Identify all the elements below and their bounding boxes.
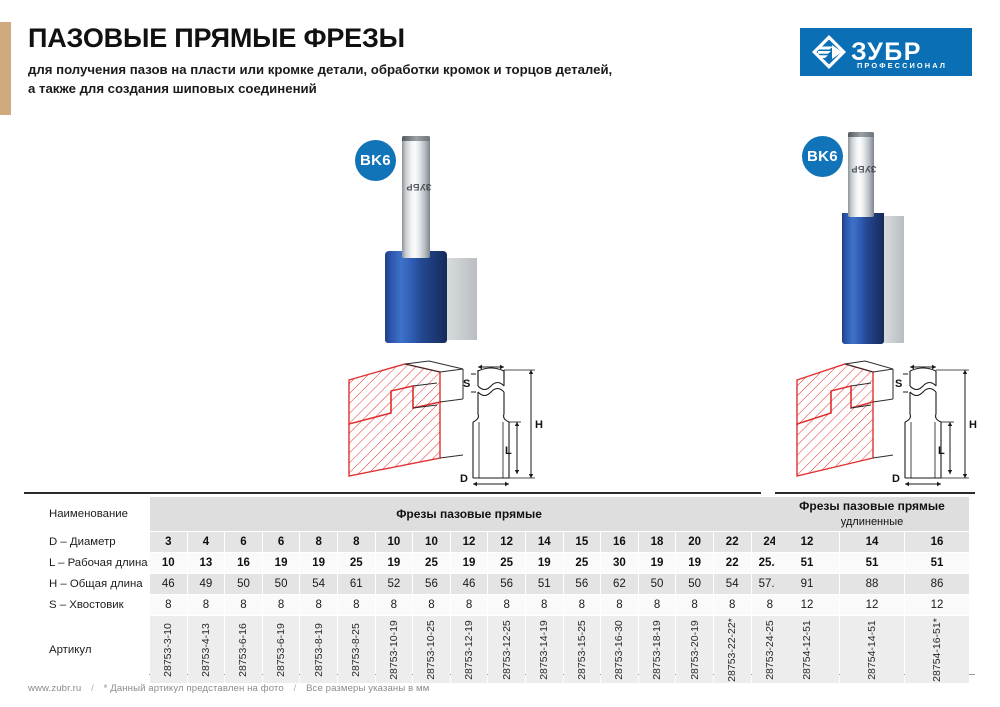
table-row: H – Общая длина4649505054615256465651566…	[23, 574, 788, 594]
table-cell: 16	[225, 553, 262, 573]
accent-bar	[0, 22, 11, 115]
table-cell: 50	[639, 574, 676, 594]
table-cell: 8	[676, 595, 713, 615]
article-cell: 28754-14-51	[840, 616, 904, 683]
table-cell: 16	[601, 532, 638, 552]
table-cell: 25	[564, 553, 601, 573]
spec-table-main: НаименованиеФрезы пазовые прямыеD – Диам…	[22, 496, 789, 684]
table-cell: 8	[714, 595, 751, 615]
table-cell: 8	[150, 595, 187, 615]
cutter-shank	[402, 136, 430, 258]
table-cell: 8	[564, 595, 601, 615]
table-cell: 8	[225, 595, 262, 615]
table-cell: 14	[840, 532, 904, 552]
table-cell: 8	[338, 595, 375, 615]
article-row-ext: 28754-12-5128754-14-5128754-16-51*	[775, 616, 969, 683]
badge-bk6-standard: BK6	[355, 140, 396, 181]
table-ext-top-rule	[775, 492, 975, 494]
article-cell: 28753-18-19	[639, 616, 676, 683]
table-cell: 8	[526, 595, 563, 615]
article-cell: 28753-10-19	[376, 616, 413, 683]
table-cell: 50	[676, 574, 713, 594]
row-label: L – Рабочая длина	[23, 553, 149, 573]
table-cell: 19	[676, 553, 713, 573]
technical-drawing-standard: S H L D	[345, 358, 545, 490]
svg-text:D: D	[460, 473, 468, 485]
table-cell: 8	[338, 532, 375, 552]
table-cell: 22	[714, 553, 751, 573]
table-cell: 30	[601, 553, 638, 573]
cutter-body	[385, 255, 447, 343]
article-cell: 28753-14-19	[526, 616, 563, 683]
table-cell: 19	[300, 553, 337, 573]
article-cell: 28753-6-19	[263, 616, 300, 683]
table-cell: 54	[300, 574, 337, 594]
cutter-brandmark-ext: ЗУБР	[851, 164, 876, 174]
table-cell: 13	[188, 553, 225, 573]
zubr-diamond-icon	[809, 32, 849, 72]
footer-site[interactable]: www.zubr.ru	[28, 683, 81, 694]
table-cell: 51	[775, 553, 839, 573]
datasheet-page: ПАЗОВЫЕ ПРЯМЫЕ ФРЕЗЫ для получения пазов…	[0, 0, 1000, 707]
table-ext-row: 515151	[775, 553, 969, 573]
table-ext-row: 918886	[775, 574, 969, 594]
table-cell: 6	[225, 532, 262, 552]
article-cell: 28753-6-16	[225, 616, 262, 683]
table-cell: 19	[376, 553, 413, 573]
table-cell: 20	[676, 532, 713, 552]
row-label: S – Хвостовик	[23, 595, 149, 615]
table-cell: 19	[526, 553, 563, 573]
table-cell: 62	[601, 574, 638, 594]
table-cell: 46	[150, 574, 187, 594]
table-cell: 51	[905, 553, 969, 573]
footer-note-1: * Данный артикул представлен на фото	[104, 683, 284, 694]
table-cell: 12	[488, 532, 525, 552]
article-cell: 28753-8-25	[338, 616, 375, 683]
article-row: Артикул28753-3-1028753-4-1328753-6-16287…	[23, 616, 788, 683]
shank-top-cap	[402, 136, 430, 141]
footer-note-2: Все размеры указаны в мм	[306, 683, 429, 694]
table-cell: 18	[639, 532, 676, 552]
zubr-logo: ЗУБР ПРОФЕССИОНАЛ	[800, 28, 972, 76]
table-cell: 52	[376, 574, 413, 594]
article-cell: 28753-8-19	[300, 616, 337, 683]
article-cell: 28754-12-51	[775, 616, 839, 683]
badge-bk6-extended: BK6	[802, 136, 843, 177]
article-cell: 28753-15-25	[564, 616, 601, 683]
table-cell: 8	[300, 595, 337, 615]
table-cell: 3	[150, 532, 187, 552]
table-cell: 61	[338, 574, 375, 594]
name-header: Наименование	[23, 497, 149, 531]
table-cell: 25	[413, 553, 450, 573]
table-cell: 8	[639, 595, 676, 615]
technical-drawing-extended: S H L D	[795, 358, 995, 490]
table-cell: 56	[488, 574, 525, 594]
subtitle-line-1: для получения пазов на пласти или кромке…	[28, 60, 748, 79]
table-cell: 51	[840, 553, 904, 573]
svg-text:L: L	[938, 445, 945, 457]
spec-table-extended: Фрезы пазовые прямыеудлиненные1214165151…	[774, 496, 970, 684]
table-cell: 14	[526, 532, 563, 552]
table-ext-row: 121212	[775, 595, 969, 615]
table-cell: 12	[905, 595, 969, 615]
table-cell: 16	[905, 532, 969, 552]
table-ext-row: 121416	[775, 532, 969, 552]
table-cell: 8	[488, 595, 525, 615]
table-cell: 10	[150, 553, 187, 573]
table-cell: 12	[775, 595, 839, 615]
table-cell: 88	[840, 574, 904, 594]
article-cell: 28753-10-25	[413, 616, 450, 683]
page-subtitle: для получения пазов на пласти или кромке…	[28, 60, 748, 99]
table-cell: 15	[564, 532, 601, 552]
table-cell: 25	[488, 553, 525, 573]
table-cell: 49	[188, 574, 225, 594]
cutter-brandmark: ЗУБР	[406, 182, 431, 192]
table-cell: 10	[413, 532, 450, 552]
page-title: ПАЗОВЫЕ ПРЯМЫЕ ФРЕЗЫ	[28, 24, 405, 52]
table-cell: 19	[263, 553, 300, 573]
article-cell: 28754-16-51*	[905, 616, 969, 683]
table-cell: 8	[376, 595, 413, 615]
logo-tagline: ПРОФЕССИОНАЛ	[857, 61, 947, 70]
table-cell: 8	[263, 595, 300, 615]
cutter-shank-ext	[848, 132, 874, 217]
table-cell: 50	[263, 574, 300, 594]
article-cell: 28753-12-19	[451, 616, 488, 683]
footer-sep-2: /	[287, 683, 304, 694]
table-cell: 91	[775, 574, 839, 594]
table-cell: 25	[338, 553, 375, 573]
table-cell: 86	[905, 574, 969, 594]
table-cell: 19	[451, 553, 488, 573]
row-label: H – Общая длина	[23, 574, 149, 594]
table-cell: 12	[451, 532, 488, 552]
article-label: Артикул	[23, 616, 149, 683]
table-cell: 51	[526, 574, 563, 594]
product-photo-standard: ЗУБР BK6	[360, 118, 510, 348]
svg-text:D: D	[892, 473, 900, 485]
footer-sep-1: /	[84, 683, 101, 694]
svg-text:H: H	[969, 419, 977, 431]
table-cell: 8	[300, 532, 337, 552]
table-cell: 46	[451, 574, 488, 594]
table-cell: 50	[225, 574, 262, 594]
table-ext-header-row: Фрезы пазовые прямыеудлиненные	[775, 497, 969, 531]
product-photo-extended: ЗУБР BK6	[800, 118, 940, 348]
table-cell: 54	[714, 574, 751, 594]
svg-text:H: H	[535, 419, 543, 431]
table-cell: 8	[451, 595, 488, 615]
group-header: Фрезы пазовые прямые	[150, 497, 788, 531]
table-cell: 56	[413, 574, 450, 594]
table-cell: 8	[413, 595, 450, 615]
article-cell: 28753-20-19	[676, 616, 713, 683]
table-row: L – Рабочая длина10131619192519251925192…	[23, 553, 788, 573]
table-cell: 8	[188, 595, 225, 615]
table-cell: 56	[564, 574, 601, 594]
table-cell: 8	[601, 595, 638, 615]
table-cell: 6	[263, 532, 300, 552]
table-row: D – Диаметр3466881010121214151618202224	[23, 532, 788, 552]
svg-text:S: S	[895, 378, 902, 390]
table-header-row: НаименованиеФрезы пазовые прямые	[23, 497, 788, 531]
svg-text:S: S	[463, 378, 470, 390]
shank-top-cap-ext	[848, 132, 874, 137]
table-cell: 4	[188, 532, 225, 552]
subtitle-line-2: а также для создания шиповых соединений	[28, 79, 748, 98]
article-cell: 28753-3-10	[150, 616, 187, 683]
table-cell: 19	[639, 553, 676, 573]
table-top-rule	[24, 492, 761, 494]
table-cell: 12	[840, 595, 904, 615]
table-cell: 22	[714, 532, 751, 552]
article-cell: 28753-12-25	[488, 616, 525, 683]
article-cell: 28753-16-30	[601, 616, 638, 683]
footer: www.zubr.ru / * Данный артикул представл…	[28, 683, 429, 694]
table-cell: 12	[775, 532, 839, 552]
row-label: D – Диаметр	[23, 532, 149, 552]
svg-text:L: L	[505, 445, 512, 457]
article-cell: 28753-22-22*	[714, 616, 751, 683]
cutter-body-ext	[842, 213, 884, 344]
table-cell: 10	[376, 532, 413, 552]
group-header-ext: Фрезы пазовые прямыеудлиненные	[775, 497, 969, 531]
article-cell: 28753-4-13	[188, 616, 225, 683]
table-row: S – Хвостовик88888888888888888	[23, 595, 788, 615]
